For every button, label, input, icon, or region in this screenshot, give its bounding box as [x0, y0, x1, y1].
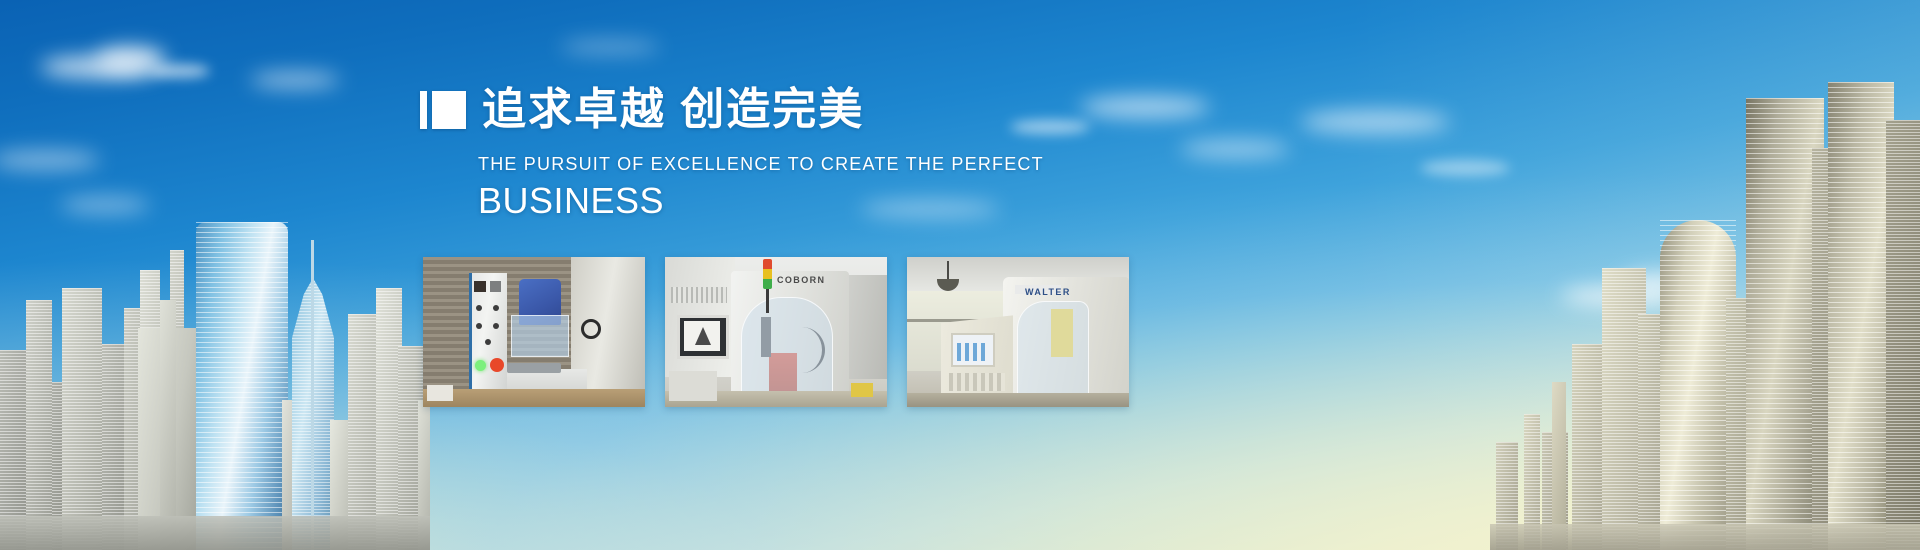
- photo-surface-grinder[interactable]: [423, 257, 645, 407]
- headline-block: 追求卓越 创造完美 THE PURSUIT OF EXCELLENCE TO C…: [420, 88, 1120, 221]
- photo-3-brand-label: WALTER: [1025, 287, 1071, 297]
- photo-3-scene: [907, 257, 1129, 407]
- photo-2-scene: [665, 257, 887, 407]
- tagline-english: THE PURSUIT OF EXCELLENCE TO CREATE THE …: [478, 154, 1120, 175]
- photo-coborn-machine[interactable]: COBORN: [665, 257, 887, 407]
- photo-1-scene: [423, 257, 645, 407]
- city-skyline-left: [0, 120, 430, 550]
- hero-banner: 追求卓越 创造完美 THE PURSUIT OF EXCELLENCE TO C…: [0, 0, 1920, 550]
- city-skyline-right: [1490, 80, 1920, 550]
- photo-2-brand-label: COBORN: [777, 275, 825, 285]
- photo-strip: COBORN: [423, 257, 1129, 407]
- bar-square-logo-icon: [420, 91, 466, 129]
- business-word: BUSINESS: [478, 181, 1120, 221]
- headline-chinese: 追求卓越 创造完美: [482, 88, 864, 132]
- photo-walter-machine[interactable]: WALTER: [907, 257, 1129, 407]
- title-row: 追求卓越 创造完美: [420, 88, 1120, 132]
